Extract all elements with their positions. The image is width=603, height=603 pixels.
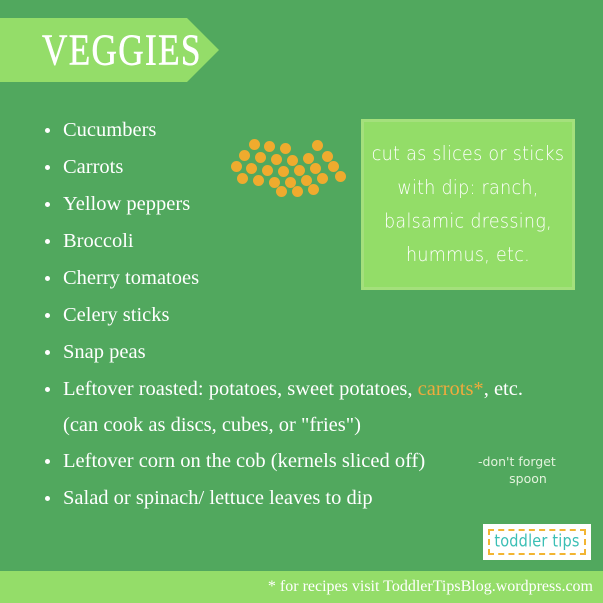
spoon-note: -don't forget spoon: [478, 453, 578, 487]
kernel-dot: [328, 161, 339, 172]
kernel-dot: [278, 166, 289, 177]
kernel-dot: [237, 173, 248, 184]
veggies-poster: VEGGIES CucumbersCarrotsYellow peppersBr…: [0, 0, 603, 603]
kernel-dot: [255, 152, 266, 163]
kernel-dot: [246, 163, 257, 174]
kernel-dot: [262, 165, 273, 176]
list-item-text: Celery sticks: [63, 304, 169, 326]
dip-callout-text: cut as slices or sticks with dip: ranch,…: [364, 137, 572, 271]
spoon-note-line-1: -don't forget: [478, 453, 578, 470]
list-item-text: Snap peas: [63, 341, 146, 363]
kernel-dot: [280, 143, 291, 154]
dip-callout-box: cut as slices or sticks with dip: ranch,…: [361, 119, 575, 290]
kernel-dot: [312, 140, 323, 151]
kernel-dot: [310, 163, 321, 174]
kernel-dot: [308, 184, 319, 195]
logo-text: toddler tips: [494, 534, 579, 551]
list-item: Leftover roasted: potatoes, sweet potato…: [40, 371, 543, 443]
list-item: Snap peas: [40, 334, 560, 371]
header-banner: VEGGIES: [0, 18, 219, 82]
kernel-dot: [276, 186, 287, 197]
kernel-dot: [271, 154, 282, 165]
kernel-dot: [264, 141, 275, 152]
kernel-dot: [249, 139, 260, 150]
list-item-text: Carrots: [63, 156, 123, 178]
footer-bar: * for recipes visit ToddlerTipsBlog.word…: [0, 571, 603, 603]
kernel-dot: [239, 150, 250, 161]
kernel-dot: [303, 153, 314, 164]
footer-text: * for recipes visit ToddlerTipsBlog.word…: [268, 579, 603, 595]
list-item-text: Yellow peppers: [63, 193, 190, 215]
kernel-dot: [335, 171, 346, 182]
kernel-dot: [231, 161, 242, 172]
list-item-text: Cucumbers: [63, 119, 156, 141]
list-item-text: Leftover roasted: potatoes, sweet potato…: [63, 378, 418, 400]
kernel-dot: [292, 186, 303, 197]
list-item-text: Salad or spinach/ lettuce leaves to dip: [63, 487, 373, 509]
list-item: Celery sticks: [40, 297, 560, 334]
spoon-note-line-2: spoon: [478, 470, 578, 487]
toddler-tips-logo-badge[interactable]: toddler tips: [483, 524, 591, 560]
corn-kernel-dots-icon: [231, 139, 351, 197]
list-item-text: Leftover corn on the cob (kernels sliced…: [63, 450, 425, 472]
kernel-dot: [294, 165, 305, 176]
logo-dashed-frame: toddler tips: [488, 529, 586, 555]
kernel-dot: [317, 173, 328, 184]
highlighted-term: carrots*: [418, 378, 484, 400]
page-title: VEGGIES: [42, 28, 202, 73]
kernel-dot: [253, 175, 264, 186]
kernel-dot: [287, 155, 298, 166]
list-item-text: Broccoli: [63, 230, 134, 252]
list-item-text: Cherry tomatoes: [63, 267, 199, 289]
